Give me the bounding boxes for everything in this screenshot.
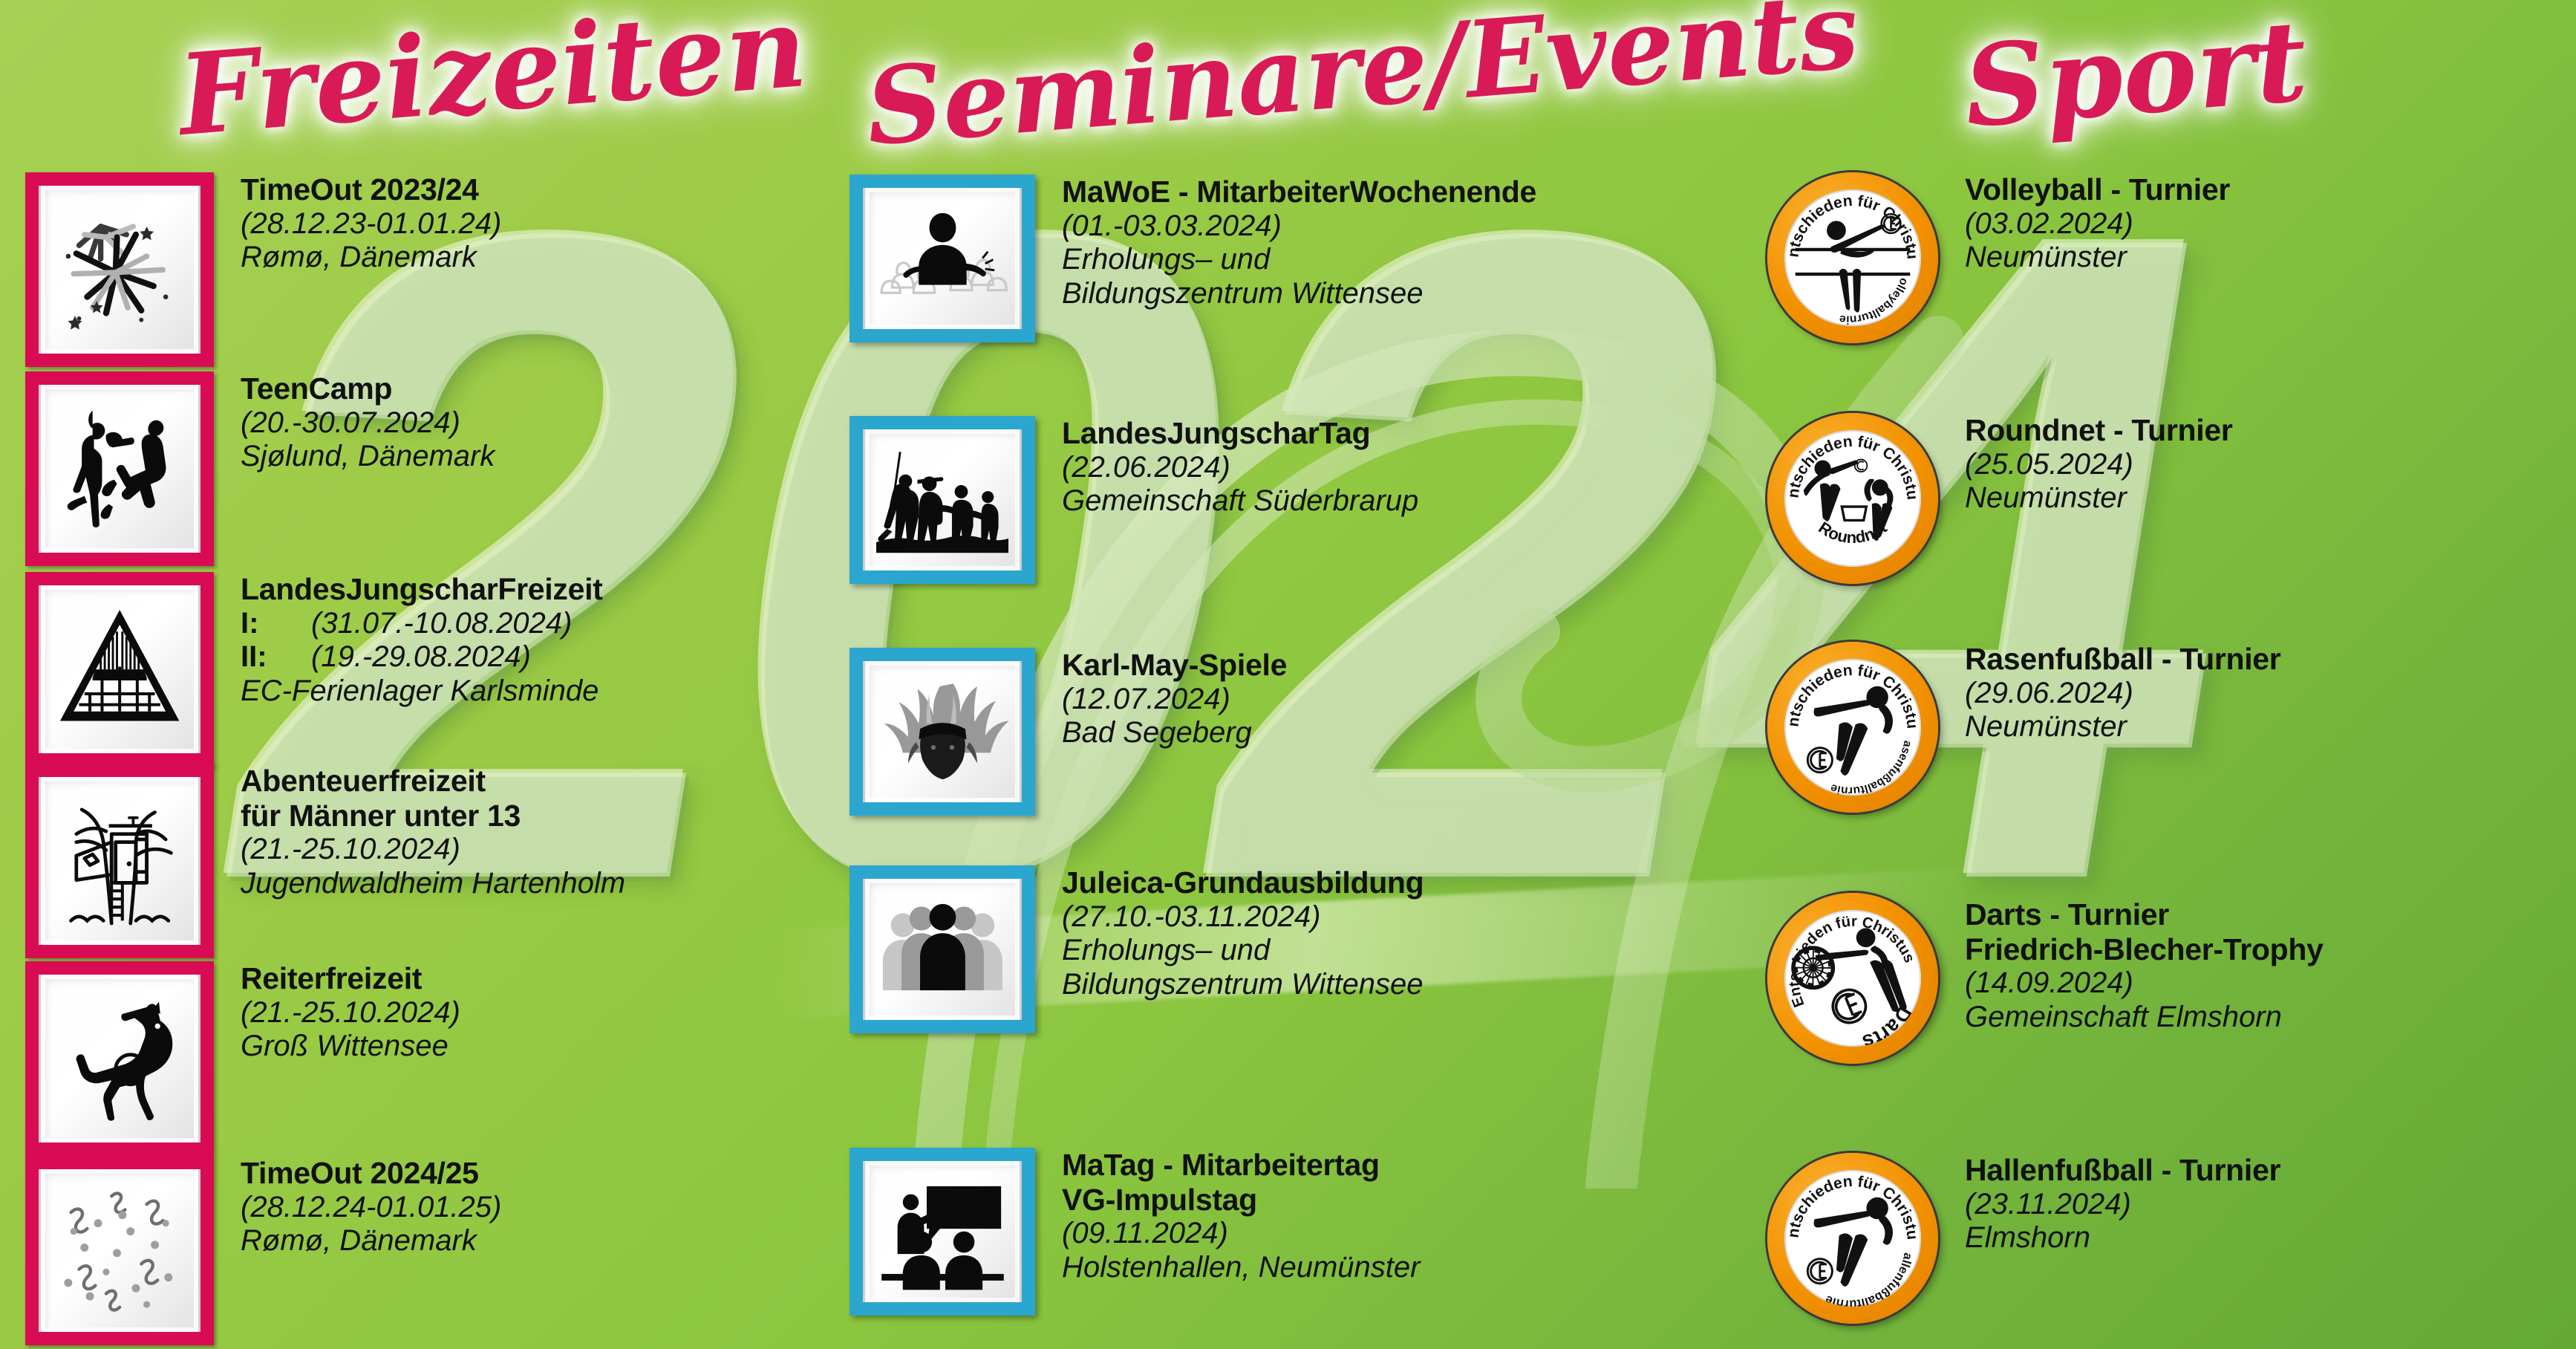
entry-title: Hallenfußball - Turnier [1965,1153,2280,1188]
entry-title: Abenteuerfreizeit [241,764,625,799]
subitem-label: II: [241,640,311,674]
rasenfussball-badge-icon: Entschieden für Christus Rasenfußballtur… [1767,642,1938,813]
svg-text:Entschieden für Christus: Entschieden für Christus [1784,1170,1921,1241]
a-frame-house-icon [25,572,214,767]
darts-badge-glyph: Entschieden für Christus Darts [1764,889,1942,1067]
entry-location: Neumünster [1965,481,2233,516]
list-item[interactable]: TimeOut 2024/25 (28.12.24-01.01.25) Rømø… [25,1156,501,1345]
entry-location: Jugendwaldheim Hartenholm [241,867,625,901]
entry-date: (14.09.2024) [1965,966,2324,1001]
entry-title-2: für Männer unter 13 [241,799,625,833]
entry-location: Rømø, Dänemark [241,241,501,275]
entry-date: (23.11.2024) [1965,1188,2280,1222]
confetti-glyph [52,1180,187,1320]
entry-date: (28.12.24-01.01.25) [241,1191,501,1225]
entry-title-2: Friedrich-Blecher-Trophy [1965,932,2324,967]
entry-date: (27.10.-03.11.2024) [1062,900,1424,934]
entry-date: (20.-30.07.2024) [241,406,495,441]
entry-title: TeenCamp [241,371,495,406]
speaker-audience-glyph [876,198,1009,319]
roundnet-badge-glyph: Entschieden für Christus Roundnet [1784,430,1921,567]
svg-text:Darts: Darts [1853,997,1924,1055]
list-item[interactable]: TimeOut 2023/24 (28.12.23-01.01.24) Rømø… [25,172,501,367]
entry-location: Neumünster [1965,241,2230,275]
entry-text: Rasenfußball - Turnier (29.06.2024) Neum… [1938,642,2280,744]
dancers-icon [25,371,214,566]
svg-text:E: E [125,1062,137,1081]
list-item[interactable]: Entschieden für Christus Darts [1767,893,2324,1064]
badge-top-text: Entschieden für Christus [1784,659,1921,729]
presentation-icon [850,1148,1035,1316]
confetti-icon [25,1156,214,1345]
entry-title: LandesJungscharTag [1062,416,1418,451]
treehouse-icon [25,764,214,958]
list-item[interactable]: Abenteuerfreizeit für Männer unter 13 (2… [25,764,625,958]
list-item[interactable]: Karl-May-Spiele (12.07.2024) Bad Segeber… [850,648,1287,816]
treehouse-glyph [52,789,187,933]
roundnet-badge-icon: Entschieden für Christus Roundnet [1767,413,1938,584]
entry-date: (29.06.2024) [1965,677,2280,711]
list-item[interactable]: MaTag - Mitarbeitertag VG-Impulstag (09.… [850,1148,1420,1316]
entry-text: Volleyball - Turnier (03.02.2024) Neumün… [1938,172,2230,275]
volleyball-badge-glyph: Entschieden für Christus Volleyballturni… [1784,189,1921,326]
horse-icon: E [25,961,214,1156]
entry-title: Juleica-Grundausbildung [1062,865,1424,900]
entry-location: Gemeinschaft Süderbrarup [1062,484,1418,519]
event-calendar-poster: 2024 Freizeiten Seminare/Events Sport [0,0,2576,1349]
entry-location: Gemeinschaft Elmshorn [1965,1001,2324,1035]
entry-date: (21.-25.10.2024) [241,996,460,1030]
entry-text: MaWoE - MitarbeiterWochenende (01.-03.03… [1035,175,1536,311]
entry-location-1: Erholungs– und [1062,243,1536,277]
entry-location: Bad Segeberg [1062,716,1287,750]
entry-title: Karl-May-Spiele [1062,648,1287,683]
children-playing-glyph [876,439,1009,560]
list-item[interactable]: Entschieden für Christus Rasenfußballtur… [1767,642,2280,813]
group-people-icon [850,865,1035,1033]
entry-text: Abenteuerfreizeit für Männer unter 13 (2… [214,764,625,901]
entry-text: TimeOut 2023/24 (28.12.23-01.01.24) Rømø… [214,172,501,275]
list-item[interactable]: LandesJungscharFreizeit I: (31.07.-10.08… [25,572,603,767]
entry-text: Hallenfußball - Turnier (23.11.2024) Elm… [1938,1153,2280,1255]
a-frame-house-glyph [52,597,187,741]
entry-title: Rasenfußball - Turnier [1965,642,2280,677]
presentation-glyph [876,1171,1009,1292]
entry-date: (25.05.2024) [1965,448,2233,482]
dancers-glyph [52,397,187,541]
subitem-label: I: [241,607,311,641]
list-item[interactable]: Entschieden für Christus Roundnet [1767,413,2233,584]
entry-date: (12.07.2024) [1062,683,1287,717]
entry-date: (22.06.2024) [1062,451,1418,485]
column-sport: Entschieden für Christus Volleyballturni… [1760,0,2576,1349]
native-headdress-icon [850,648,1035,816]
entry-location-2: Bildungszentrum Wittensee [1062,968,1424,1002]
entry-text: MaTag - Mitarbeitertag VG-Impulstag (09.… [1035,1148,1420,1285]
entry-location: Neumünster [1965,710,2280,744]
hallenfussball-badge-icon: Entschieden für Christus Hallenfußballtu… [1767,1153,1938,1324]
entry-text: LandesJungscharTag (22.06.2024) Gemeinsc… [1035,416,1418,519]
fireworks-icon [25,172,214,367]
entry-date: (21.-25.10.2024) [241,833,625,867]
entry-date: (09.11.2024) [1062,1217,1420,1251]
entry-date: (01.-03.03.2024) [1062,209,1536,244]
entry-text: TimeOut 2024/25 (28.12.24-01.01.25) Rømø… [214,1156,501,1258]
entry-title: Volleyball - Turnier [1965,172,2230,207]
subitem-value: (19.-29.08.2024) [311,640,531,674]
entry-title: TimeOut 2023/24 [241,172,501,207]
list-item[interactable]: LandesJungscharTag (22.06.2024) Gemeinsc… [850,416,1418,584]
entry-date: (28.12.23-01.01.24) [241,207,501,241]
entry-text: Roundnet - Turnier (25.05.2024) Neumünst… [1938,413,2233,516]
group-people-glyph [876,888,1009,1010]
svg-text:Entschieden für Christus: Entschieden für Christus [1784,659,1921,729]
entry-location: Holstenhallen, Neumünster [1062,1251,1420,1285]
entry-text: LandesJungscharFreizeit I: (31.07.-10.08… [214,572,603,709]
subitem-value: (31.07.-10.08.2024) [311,607,572,641]
list-item[interactable]: Juleica-Grundausbildung (27.10.-03.11.20… [850,865,1424,1033]
entry-title: Reiterfreizeit [241,961,460,996]
entry-title-2: VG-Impulstag [1062,1183,1420,1218]
badge-top-text: Entschieden für Christus [1784,1170,1921,1241]
hallenfussball-badge-glyph: Entschieden für Christus Hallenfußballtu… [1784,1170,1921,1307]
entry-subitem: I: (31.07.-10.08.2024) [241,607,603,641]
entry-title: MaTag - Mitarbeitertag [1062,1148,1420,1183]
native-headdress-glyph [876,671,1009,792]
fireworks-glyph [52,198,187,342]
darts-badge-icon: Entschieden für Christus Darts [1741,867,1963,1089]
badge-bottom-text: Darts [1853,997,1924,1055]
list-item[interactable]: Entschieden für Christus Volleyballturni… [1767,172,2230,343]
list-item[interactable]: E Reiterfreizeit (21.-25.10.2024) Groß W… [25,961,460,1156]
entry-text: Juleica-Grundausbildung (27.10.-03.11.20… [1035,865,1424,1002]
entry-text: Karl-May-Spiele (12.07.2024) Bad Segeber… [1035,648,1287,750]
entry-text: TeenCamp (20.-30.07.2024) Sjølund, Dänem… [214,371,495,474]
entry-title: LandesJungscharFreizeit [241,572,603,607]
entry-location: Elmshorn [1965,1221,2280,1255]
entry-subitem: II: (19.-29.08.2024) [241,640,603,674]
column-freizeiten: TimeOut 2023/24 (28.12.23-01.01.24) Rømø… [0,0,839,1349]
rasenfussball-badge-glyph: Entschieden für Christus Rasenfußballtur… [1784,659,1921,796]
children-playing-icon [850,416,1035,584]
entry-title: Darts - Turnier [1965,897,2324,932]
entry-title: TimeOut 2024/25 [241,1156,501,1191]
entry-title: MaWoE - MitarbeiterWochenende [1062,175,1536,209]
volleyball-badge-icon: Entschieden für Christus Volleyballturni… [1767,172,1938,343]
list-item[interactable]: Entschieden für Christus Hallenfußballtu… [1767,1153,2280,1324]
list-item[interactable]: MaWoE - MitarbeiterWochenende (01.-03.03… [850,175,1536,342]
speaker-audience-icon [850,175,1035,342]
entry-date: (03.02.2024) [1965,207,2230,241]
horse-glyph: E [52,986,187,1131]
entry-text: Darts - Turnier Friedrich-Blecher-Trophy… [1938,893,2324,1035]
entry-location: Rømø, Dänemark [241,1224,501,1258]
entry-location: Sjølund, Dänemark [241,440,495,474]
column-seminare-events: MaWoE - MitarbeiterWochenende (01.-03.03… [839,0,1760,1349]
entry-title: Roundnet - Turnier [1965,413,2233,448]
list-item[interactable]: TeenCamp (20.-30.07.2024) Sjølund, Dänem… [25,371,495,566]
entry-text: Reiterfreizeit (21.-25.10.2024) Groß Wit… [214,961,460,1064]
entry-location-1: Erholungs– und [1062,934,1424,968]
entry-location: Groß Wittensee [241,1030,460,1064]
entry-location-2: Bildungszentrum Wittensee [1062,277,1536,311]
entry-location: EC-Ferienlager Karlsminde [241,674,603,709]
